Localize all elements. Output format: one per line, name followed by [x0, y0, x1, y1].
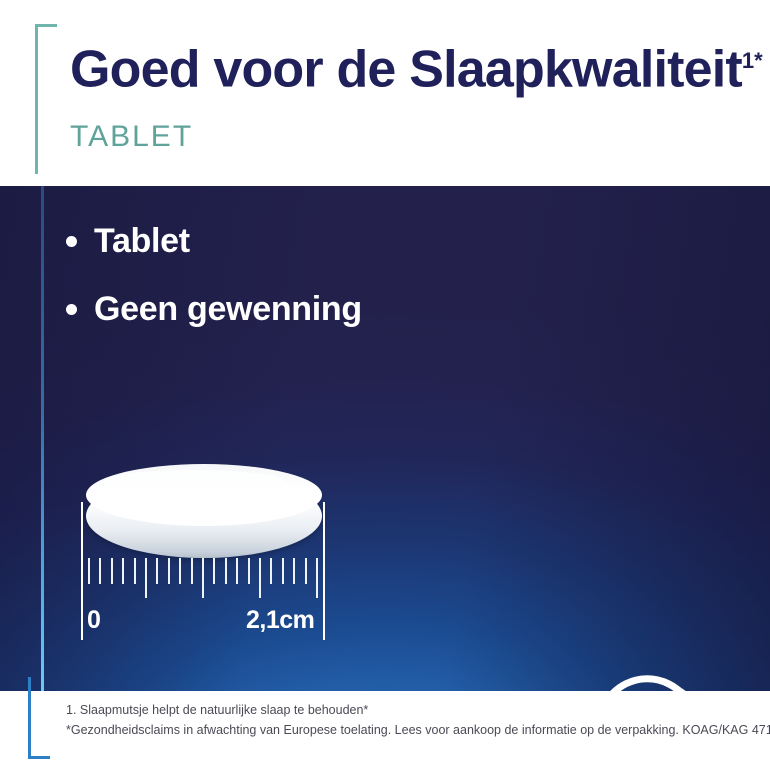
- ruler-label-start: 0: [87, 606, 100, 635]
- ruler-tick-minor: [179, 558, 181, 584]
- promo-card: Goed voor de Slaapkwaliteit1* TABLET Tab…: [0, 0, 770, 770]
- page-title-text: Goed voor de Slaapkwaliteit: [70, 40, 742, 98]
- footnote-line: 1. Slaapmutsje helpt de natuurlijke slaa…: [66, 700, 766, 720]
- list-item-label: Tablet: [94, 222, 190, 260]
- tablet-illustration: 0 2,1cm: [78, 474, 328, 649]
- footer-section: 1. Slaapmutsje helpt de natuurlijke slaa…: [0, 691, 770, 770]
- header-section: Goed voor de Slaapkwaliteit1* TABLET: [0, 0, 770, 186]
- ruler-tick-minor: [236, 558, 238, 584]
- ruler-tick-minor: [99, 558, 101, 584]
- ruler-edge-end: [323, 502, 325, 640]
- ruler-label-end: 2,1cm: [246, 606, 314, 635]
- page-title: Goed voor de Slaapkwaliteit1*: [70, 30, 760, 100]
- footnote-line: *Gezondheidsclaims in afwachting van Eur…: [66, 720, 766, 740]
- footer-bracket-decoration: [28, 677, 50, 759]
- list-item-label: Geen gewenning: [94, 290, 362, 328]
- ruler-tick-minor: [122, 558, 124, 584]
- main-panel: Tablet Geen gewenning 0 2,1cm: [0, 186, 770, 691]
- feature-list: Tablet Geen gewenning: [66, 222, 362, 358]
- ruler-tick-minor: [282, 558, 284, 584]
- panel-accent-line: [41, 186, 44, 691]
- ruler-tick-minor: [134, 558, 136, 584]
- bullet-dot-icon: [66, 236, 77, 247]
- list-item: Tablet: [66, 222, 362, 260]
- header-bracket-decoration: [35, 24, 57, 174]
- ruler-tick-major: [145, 558, 147, 598]
- ruler-tick-major: [259, 558, 261, 598]
- ruler-scale: 0 2,1cm: [78, 474, 328, 649]
- ruler-tick-minor: [270, 558, 272, 584]
- ruler-tick-minor: [213, 558, 215, 584]
- ruler-tick-minor: [156, 558, 158, 584]
- bullet-dot-icon: [66, 304, 77, 315]
- v-circle-arrow-logo-icon: [588, 674, 710, 691]
- ruler-tick-minor: [293, 558, 295, 584]
- page-subtitle: TABLET: [70, 120, 193, 154]
- page-title-superscript: 1*: [742, 48, 763, 73]
- ruler-tick-minor: [88, 558, 90, 584]
- footnotes: 1. Slaapmutsje helpt de natuurlijke slaa…: [66, 700, 766, 740]
- ruler-tick-minor: [305, 558, 307, 584]
- ruler-tick-minor: [111, 558, 113, 584]
- ruler-edge-start: [81, 502, 83, 640]
- ruler-tick-minor: [225, 558, 227, 584]
- list-item: Geen gewenning: [66, 290, 362, 328]
- ruler-tick-minor: [168, 558, 170, 584]
- ruler-tick-minor: [248, 558, 250, 584]
- ruler-tick-minor: [191, 558, 193, 584]
- ruler-tick-major: [202, 558, 204, 598]
- ruler-tick-major: [316, 558, 318, 598]
